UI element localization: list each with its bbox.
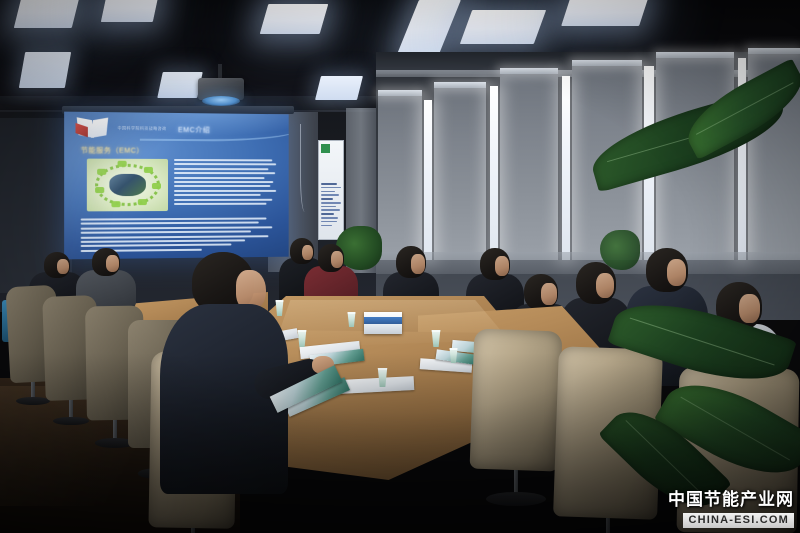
hanging-cable [300,124,312,212]
face [596,273,614,298]
watermark-chinese: 中国节能产业网 [668,492,794,509]
tissue-box [364,312,402,334]
slide-text-line [81,239,245,243]
slide-logo-text: 中国科学院科技战略咨询 [118,125,167,131]
slide-text-line [174,172,275,174]
notice-header-badge [321,144,330,153]
blind-panel-4-headrail [572,60,642,66]
notice-line [321,213,334,215]
blind-panel-2[interactable] [434,88,486,260]
face [331,251,343,268]
slide-text-line [174,163,276,165]
window-light-gap-2 [490,86,498,260]
ceiling-light-5 [460,10,546,44]
slide-text-line [174,203,266,205]
slide-text-line [174,198,272,200]
blind-panel-3-headrail [500,68,558,74]
ceiling-light-8 [157,72,203,98]
ceiling-light-2 [101,0,159,22]
watermark: 中国节能产业网 CHINA-ESI.COM [668,492,794,528]
slide-text-line [174,168,268,170]
chair-left-2-post [69,400,73,419]
notice-line [321,191,335,193]
blind-panel-1[interactable] [378,96,422,260]
chair-right-1-base [486,492,546,506]
face [106,255,119,272]
notice-line [321,206,336,208]
projector-lens-glow [202,96,240,106]
blind-panel-6-headrail [748,48,800,54]
slide-text-line [81,231,251,234]
slide-text-line [81,244,232,248]
slide-text-line [174,194,261,196]
chair-right-1[interactable] [470,329,563,472]
slide-text-line [81,222,259,225]
slide-text-line [174,190,276,192]
projection-screen: 中国科学院科技战略咨询 EMC介绍 节能服务（EMC） [64,112,289,260]
slide-text-line [174,177,264,179]
ceiling-light-7 [19,52,71,88]
face [495,256,509,275]
notice-line [321,225,332,227]
window-light-gap-1 [424,100,432,260]
slide-title-text: 节能服务（EMC） [81,145,144,155]
conference-room-photo: 中国科学院科技战略咨询 EMC介绍 节能服务（EMC） [0,0,800,533]
chair-foreground-post [191,528,195,533]
slide-text-line [81,226,273,229]
notice-line [321,194,339,196]
slide-text-line [81,235,269,239]
blind-panel-2-headrail [434,82,486,88]
slide-text-line [174,185,270,187]
slide-text-line [174,181,273,183]
notice-line [321,198,333,200]
slide-body-text [174,159,276,207]
slide-logo-icon [76,119,111,138]
notice-line [321,217,338,219]
notice-line [321,221,337,223]
slide-header-text: EMC介绍 [178,125,210,135]
notice-text-lines [319,183,343,228]
face [541,283,557,305]
ceiling-light-6 [561,0,649,26]
wall-notice-board [318,140,344,240]
slide-diagram-image [87,159,168,212]
notice-line [321,183,337,185]
blind-panel-3[interactable] [500,74,558,260]
face [302,245,313,261]
notice-line [321,209,340,211]
notice-line [321,202,341,204]
ceiling-light-9 [315,76,363,100]
face [57,259,69,275]
notice-line [321,187,341,189]
watermark-english: CHINA-ESI.COM [683,513,794,528]
blind-panel-5-headrail [656,52,734,58]
ceiling-light-1 [14,0,80,28]
face [411,254,425,273]
face [739,294,760,323]
window-light-gap-3 [562,76,570,260]
slide-text-line [174,159,272,161]
slide-text-line [81,218,267,221]
ceiling-light-3 [260,4,329,34]
face [667,259,686,285]
blind-panel-1-headrail [378,90,422,96]
chair-right-2-post [606,518,610,533]
